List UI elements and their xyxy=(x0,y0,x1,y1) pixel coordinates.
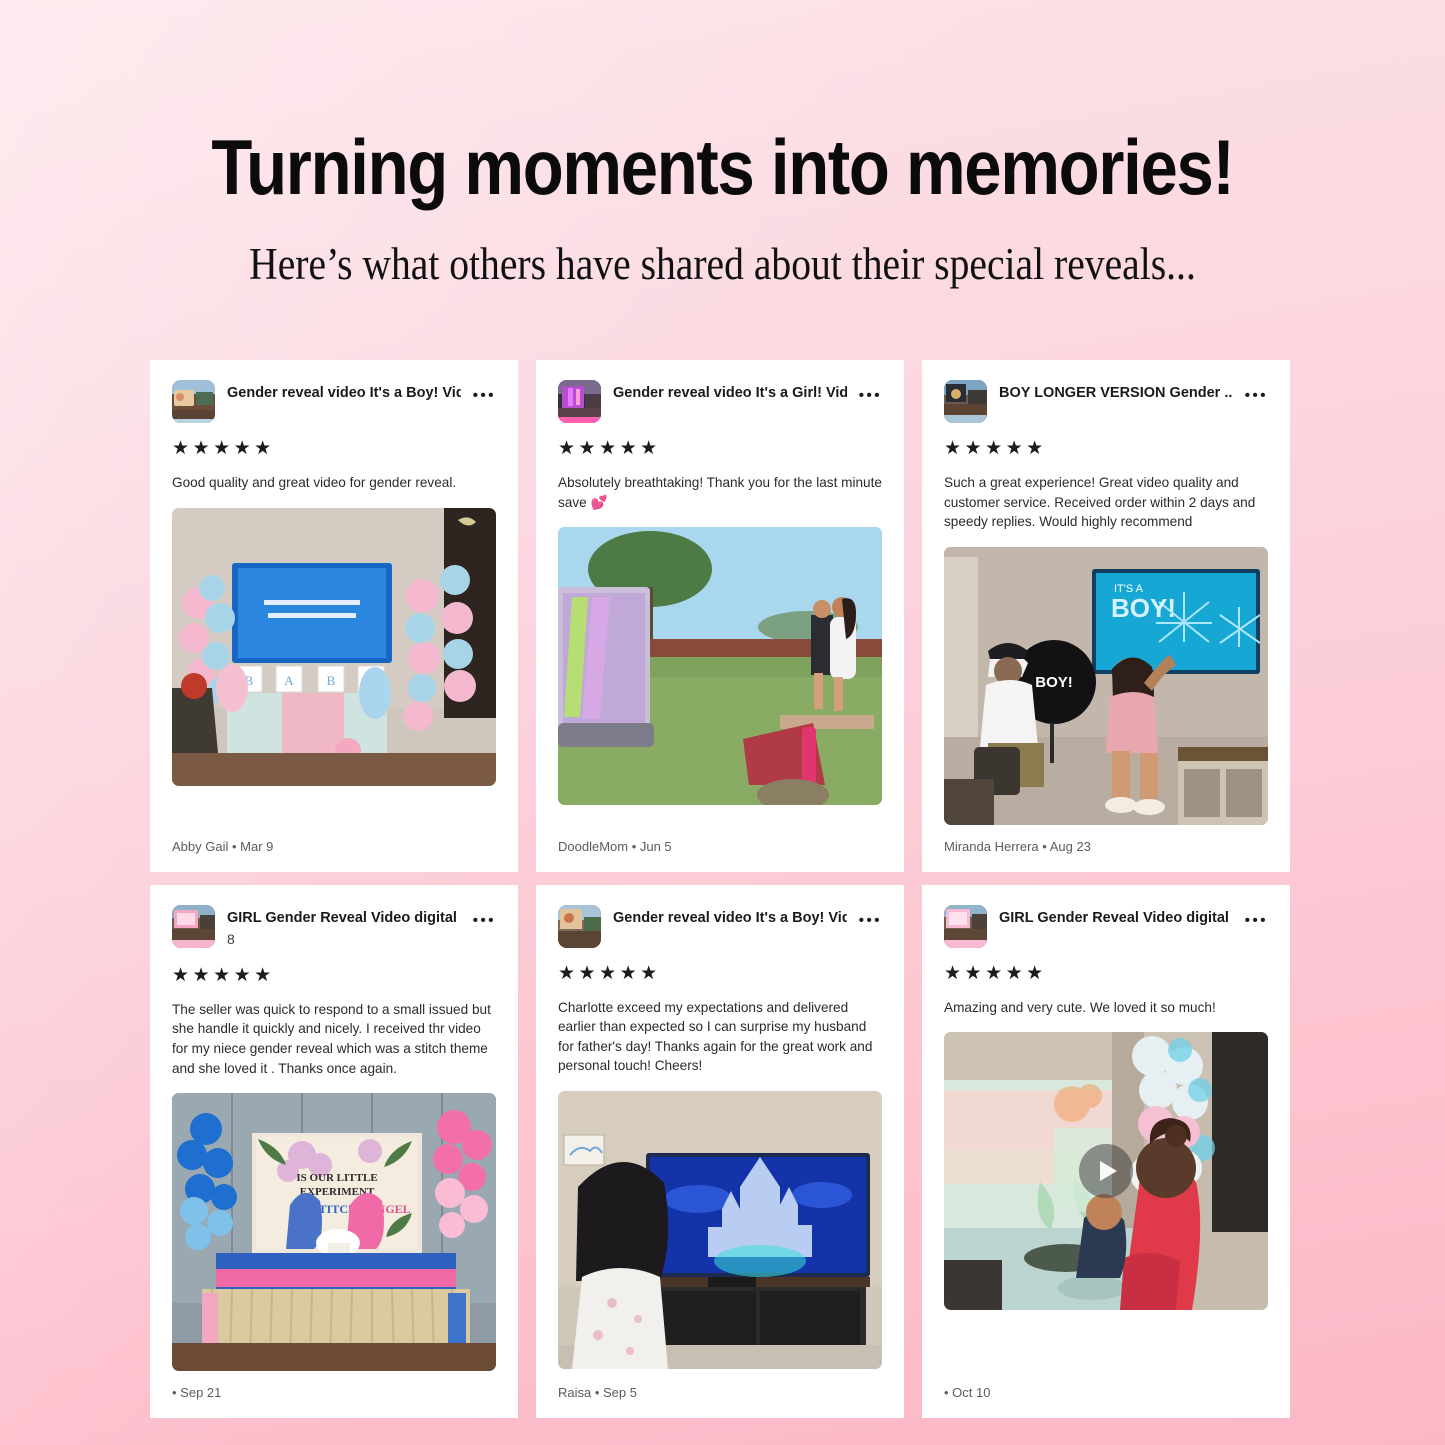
svg-text:BOY!: BOY! xyxy=(1035,674,1073,691)
review-photo[interactable] xyxy=(558,527,882,805)
rating-stars: ★★★★★ xyxy=(944,439,1268,458)
listing-thumbnail[interactable] xyxy=(558,905,601,948)
listing-thumbnail[interactable] xyxy=(944,380,987,423)
more-options-icon[interactable]: ••• xyxy=(1245,380,1268,404)
review-text: Amazing and very cute. We loved it so mu… xyxy=(944,998,1268,1018)
listing-title: Gender reveal video It's a Boy! Vide... xyxy=(227,384,461,402)
review-card[interactable]: BOY LONGER VERSION Gender ... ••• ★★★★★ … xyxy=(922,360,1290,872)
review-card[interactable]: Gender reveal video It's a Girl! Vide...… xyxy=(536,360,904,872)
listing-thumbnail[interactable] xyxy=(558,380,601,423)
listing-title: GIRL Gender Reveal Video digital ... xyxy=(227,909,461,927)
review-card-header: Gender reveal video It's a Girl! Vide...… xyxy=(558,380,882,423)
review-text: The seller was quick to respond to a sma… xyxy=(172,1000,496,1078)
review-photo[interactable] xyxy=(558,1091,882,1369)
review-byline: Raisa • Sep 5 xyxy=(558,1371,882,1418)
more-options-icon[interactable]: ••• xyxy=(1245,905,1268,929)
review-photo[interactable]: BA BY xyxy=(172,508,496,786)
listing-info: Gender reveal video It's a Boy! Vide... xyxy=(227,380,461,402)
review-byline: Miranda Herrera • Aug 23 xyxy=(944,825,1268,872)
review-photo[interactable] xyxy=(944,1032,1268,1310)
review-byline: DoodleMom • Jun 5 xyxy=(558,825,882,872)
review-text: Charlotte exceed my expectations and del… xyxy=(558,998,882,1076)
more-options-icon[interactable]: ••• xyxy=(473,905,496,929)
review-card[interactable]: Gender reveal video It's a Boy! Vide... … xyxy=(150,360,518,872)
listing-thumbnail[interactable] xyxy=(172,905,215,948)
rating-stars: ★★★★★ xyxy=(558,964,882,983)
listing-info: GIRL Gender Reveal Video digital ... xyxy=(999,905,1233,927)
listing-thumbnail[interactable] xyxy=(944,905,987,948)
review-card[interactable]: GIRL Gender Reveal Video digital ... 8 •… xyxy=(150,885,518,1418)
review-card-header: GIRL Gender Reveal Video digital ... ••• xyxy=(944,905,1268,948)
page-subtitle: Here’s what others have shared about the… xyxy=(87,240,1359,290)
more-options-icon[interactable]: ••• xyxy=(859,905,882,929)
review-card[interactable]: Gender reveal video It's a Boy! Vide... … xyxy=(536,885,904,1418)
review-grid: Gender reveal video It's a Boy! Vide... … xyxy=(150,360,1295,1418)
listing-title: Gender reveal video It's a Boy! Vide... xyxy=(613,909,847,927)
listing-title: GIRL Gender Reveal Video digital ... xyxy=(999,909,1233,927)
review-text: Such a great experience! Great video qua… xyxy=(944,473,1268,532)
review-text: Good quality and great video for gender … xyxy=(172,473,496,493)
rating-stars: ★★★★★ xyxy=(944,964,1268,983)
listing-title: BOY LONGER VERSION Gender ... xyxy=(999,384,1233,402)
more-options-icon[interactable]: ••• xyxy=(473,380,496,404)
review-card-header: BOY LONGER VERSION Gender ... ••• xyxy=(944,380,1268,423)
page-header: Turning moments into memories! Here’s wh… xyxy=(0,128,1445,290)
listing-info: BOY LONGER VERSION Gender ... xyxy=(999,380,1233,402)
svg-text:B: B xyxy=(327,673,336,688)
listing-info: GIRL Gender Reveal Video digital ... 8 xyxy=(227,905,461,950)
review-collage-page: Turning moments into memories! Here’s wh… xyxy=(0,0,1445,1445)
review-text: Absolutely breathtaking! Thank you for t… xyxy=(558,473,882,512)
listing-info: Gender reveal video It's a Boy! Vide... xyxy=(613,905,847,927)
review-photo[interactable]: IS OUR LITTLE EXPERIMENT STITCH or ANGEL xyxy=(172,1093,496,1371)
review-card-header: Gender reveal video It's a Boy! Vide... … xyxy=(172,380,496,423)
rating-stars: ★★★★★ xyxy=(558,439,882,458)
svg-text:BOY!: BOY! xyxy=(1111,593,1176,623)
play-button-icon[interactable] xyxy=(1079,1144,1133,1198)
svg-text:A: A xyxy=(284,673,294,688)
listing-thumbnail[interactable] xyxy=(172,380,215,423)
more-options-icon[interactable]: ••• xyxy=(859,380,882,404)
review-byline: • Oct 10 xyxy=(944,1371,1268,1418)
listing-subtitle: 8 xyxy=(227,929,461,950)
rating-stars: ★★★★★ xyxy=(172,966,496,985)
page-title: Turning moments into memories! xyxy=(101,128,1344,206)
svg-text:IS OUR LITTLE: IS OUR LITTLE xyxy=(296,1172,377,1184)
review-byline: • Sep 21 xyxy=(172,1371,496,1418)
review-card[interactable]: GIRL Gender Reveal Video digital ... •••… xyxy=(922,885,1290,1418)
listing-info: Gender reveal video It's a Girl! Vide... xyxy=(613,380,847,402)
review-byline: Abby Gail • Mar 9 xyxy=(172,825,496,872)
rating-stars: ★★★★★ xyxy=(172,439,496,458)
review-photo[interactable]: IT'S A BOY! BOY! xyxy=(944,547,1268,825)
review-card-header: GIRL Gender Reveal Video digital ... 8 •… xyxy=(172,905,496,950)
listing-title: Gender reveal video It's a Girl! Vide... xyxy=(613,384,847,402)
review-card-header: Gender reveal video It's a Boy! Vide... … xyxy=(558,905,882,948)
